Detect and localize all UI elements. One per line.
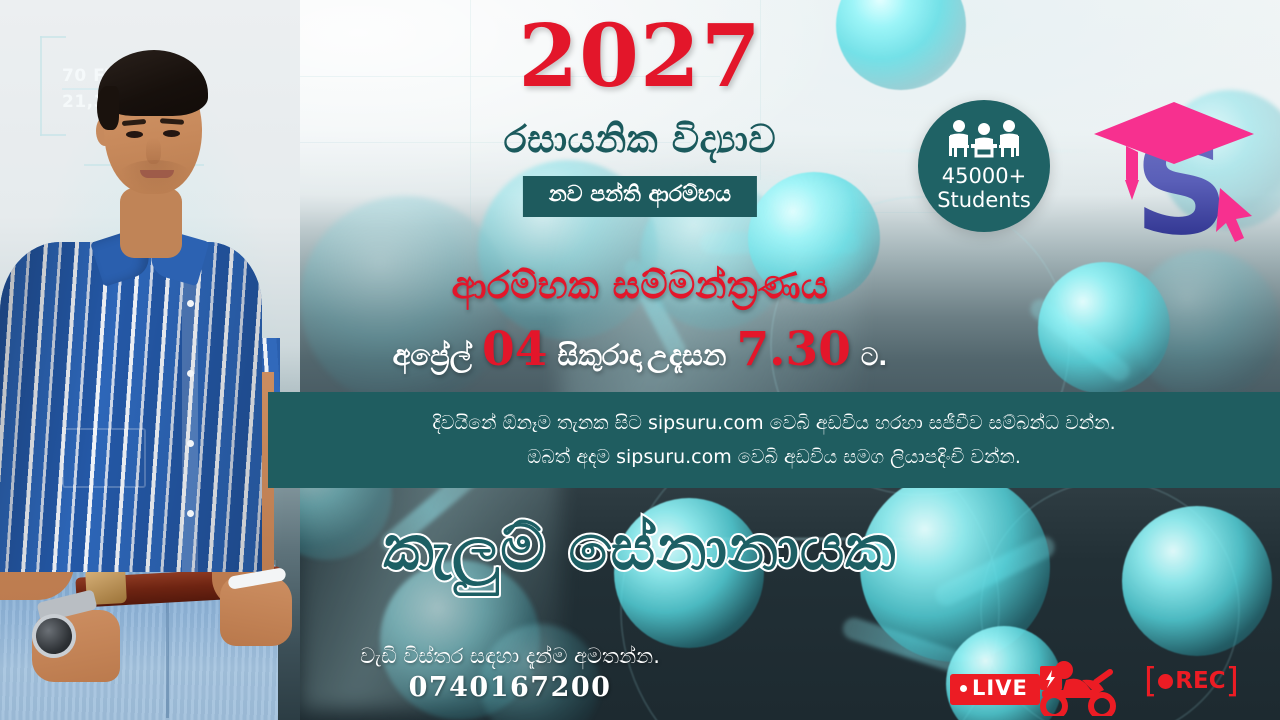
sipsuru-logo: S [1092,96,1260,256]
promo-poster: 70 FT 21,3 M [0,0,1280,720]
mouth [140,170,174,178]
students-count: 45000+ [942,165,1026,188]
seminar-time: 7.30 [736,322,850,377]
students-classroom-icon [946,119,1022,161]
subject-title: රසායනික විද්‍යාව [0,118,1280,162]
seminar-weekday: සිකුරාදා [558,338,642,372]
graduation-cap-icon [1094,102,1254,200]
rec-bracket-close: ] [1226,668,1239,695]
info-banner: දිවයිනේ ඕනෑම තැනක සිට sipsuru.com වෙබි අ… [268,392,1280,488]
info-banner-line-1: දිවයිනේ ඕනෑම තැනක සිට sipsuru.com වෙබි අ… [432,406,1115,441]
seminar-day: 04 [482,322,547,377]
rec-bracket-open: [ [1144,668,1157,695]
contact-phone-number[interactable]: 0740167200 [250,670,770,705]
status-badge-new-class: නව පන්ති ආරම්භය [523,176,757,217]
seminar-month: අප්‍රේල් [393,338,472,372]
contact-footer: වැඩි විස්තර සඳහා දැන්ම අමතන්න. 074016720… [250,642,770,705]
contact-prompt: වැඩි විස්තර සඳහා දැන්ම අමතන්න. [250,642,770,670]
seminar-title: ආරම්භක සම්මන්ත්‍රණය [0,263,1280,308]
seminar-part-of-day: උදෑසන [647,338,726,372]
page-title-year: 2027 [0,14,1280,100]
instructor-name: කැලුම් සේනානායක [0,512,1280,583]
info-banner-line-2: ඔබත් අදම sipsuru.com වෙබි අඩවිය සමග ලියා… [527,440,1021,475]
live-label: LIVE [972,676,1028,701]
students-count-badge: 45000+ Students [918,100,1050,232]
live-badge: LIVE [950,674,1040,705]
neck [120,188,182,258]
live-dot-icon [960,685,967,692]
cursor-arrow-icon [1216,188,1252,242]
students-label: Students [937,188,1031,212]
delivery-scooter-icon [1036,630,1132,716]
rec-dot-icon [1158,674,1173,689]
seminar-time-suffix: ට. [861,343,887,371]
seminar-datetime: අප්‍රේල් 04 සිකුරාදා උදෑසන 7.30 ට. [0,322,1280,377]
rec-label: REC [1175,668,1225,696]
rec-badge: [ REC ] [1144,668,1239,696]
